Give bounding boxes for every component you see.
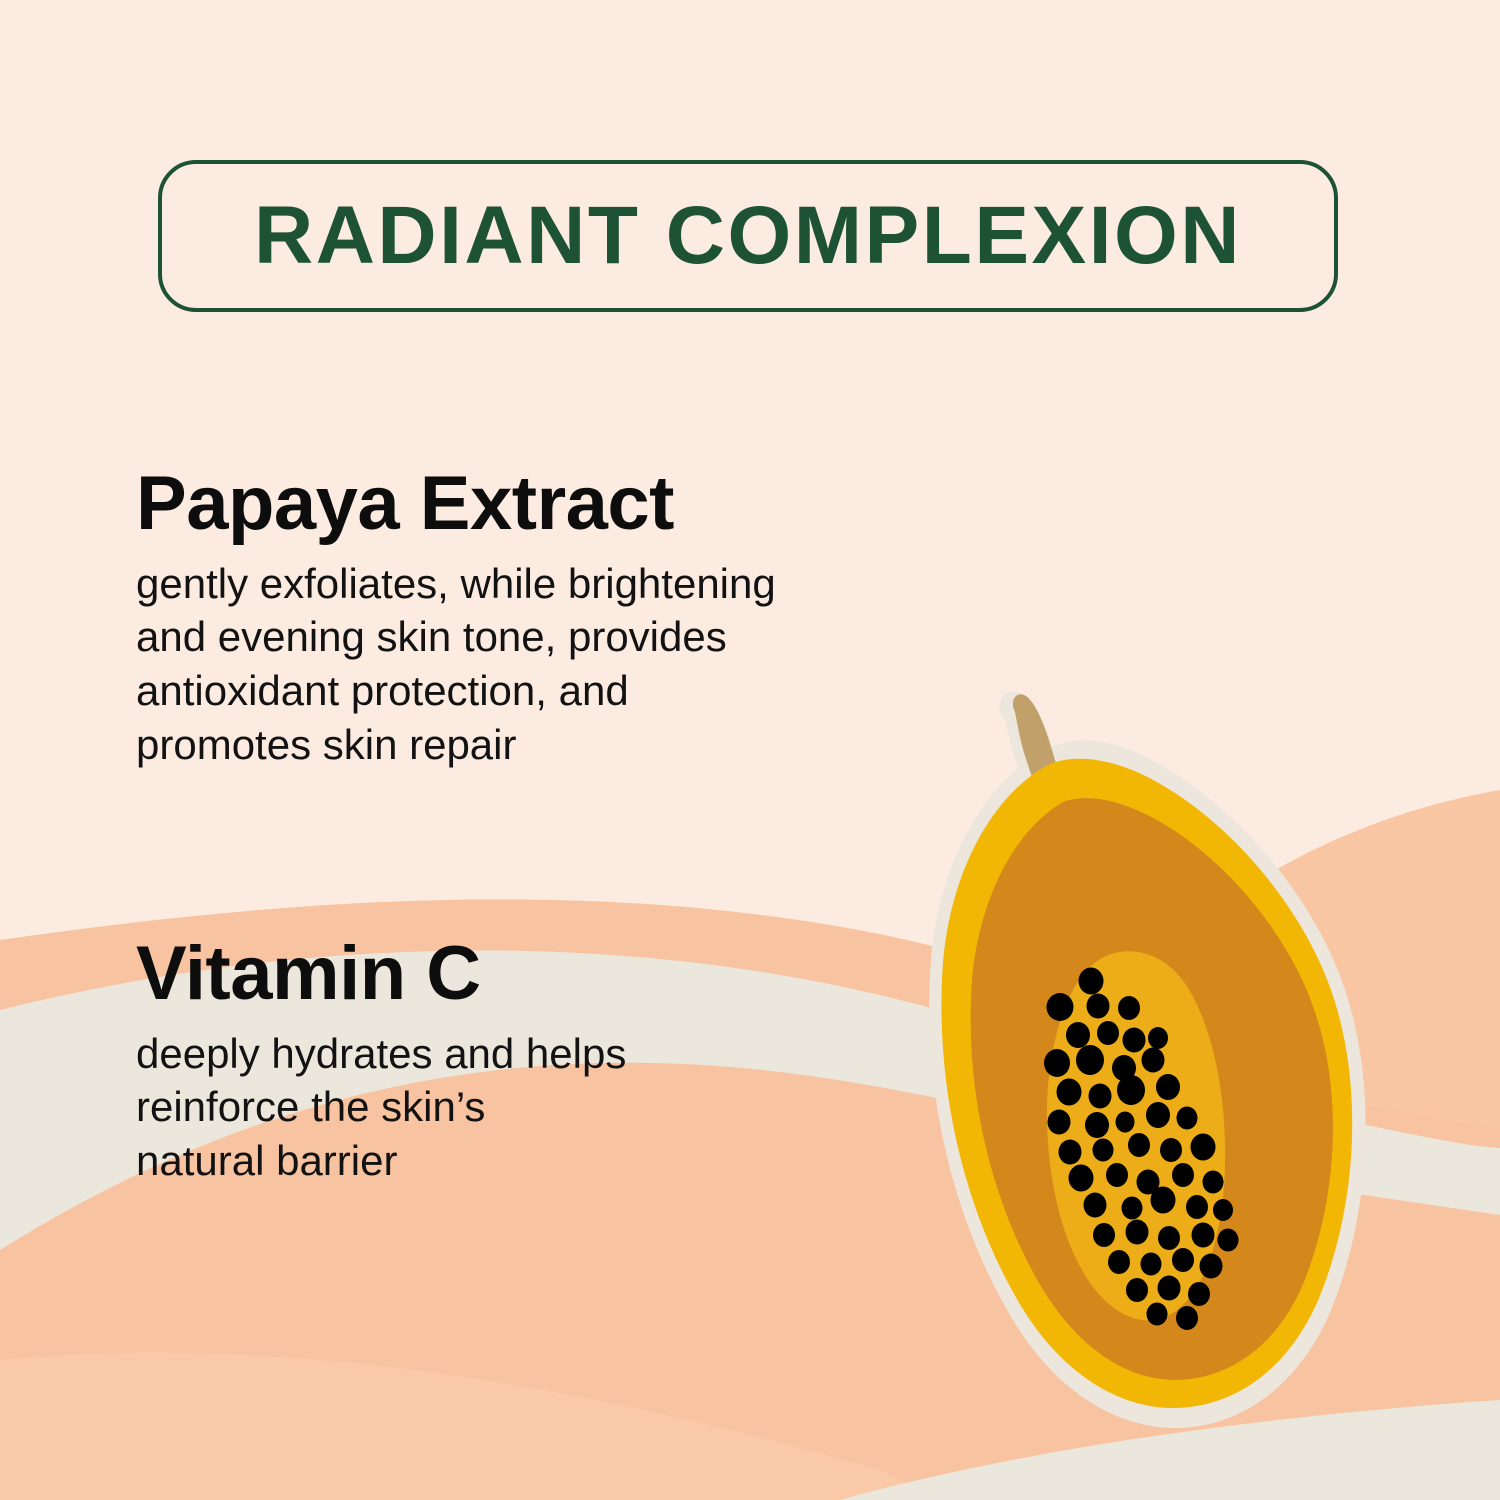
- poster-canvas: RADIANT COMPLEXION Papaya Extract gently…: [0, 0, 1500, 1500]
- radiant-complexion-badge: RADIANT COMPLEXION: [158, 160, 1338, 312]
- ingredient-block-papaya-extract: Papaya Extract gently exfoliates, while …: [136, 465, 996, 772]
- ingredient-description: deeply hydrates and helps reinforce the …: [136, 1027, 836, 1188]
- page-title: RADIANT COMPLEXION: [254, 195, 1242, 277]
- papaya-illustration: [895, 660, 1415, 1450]
- ingredient-description: gently exfoliates, while brightening and…: [136, 557, 996, 772]
- ingredient-block-vitamin-c: Vitamin C deeply hydrates and helps rein…: [136, 935, 836, 1188]
- ingredient-name: Vitamin C: [136, 935, 836, 1013]
- ingredient-name: Papaya Extract: [136, 465, 996, 543]
